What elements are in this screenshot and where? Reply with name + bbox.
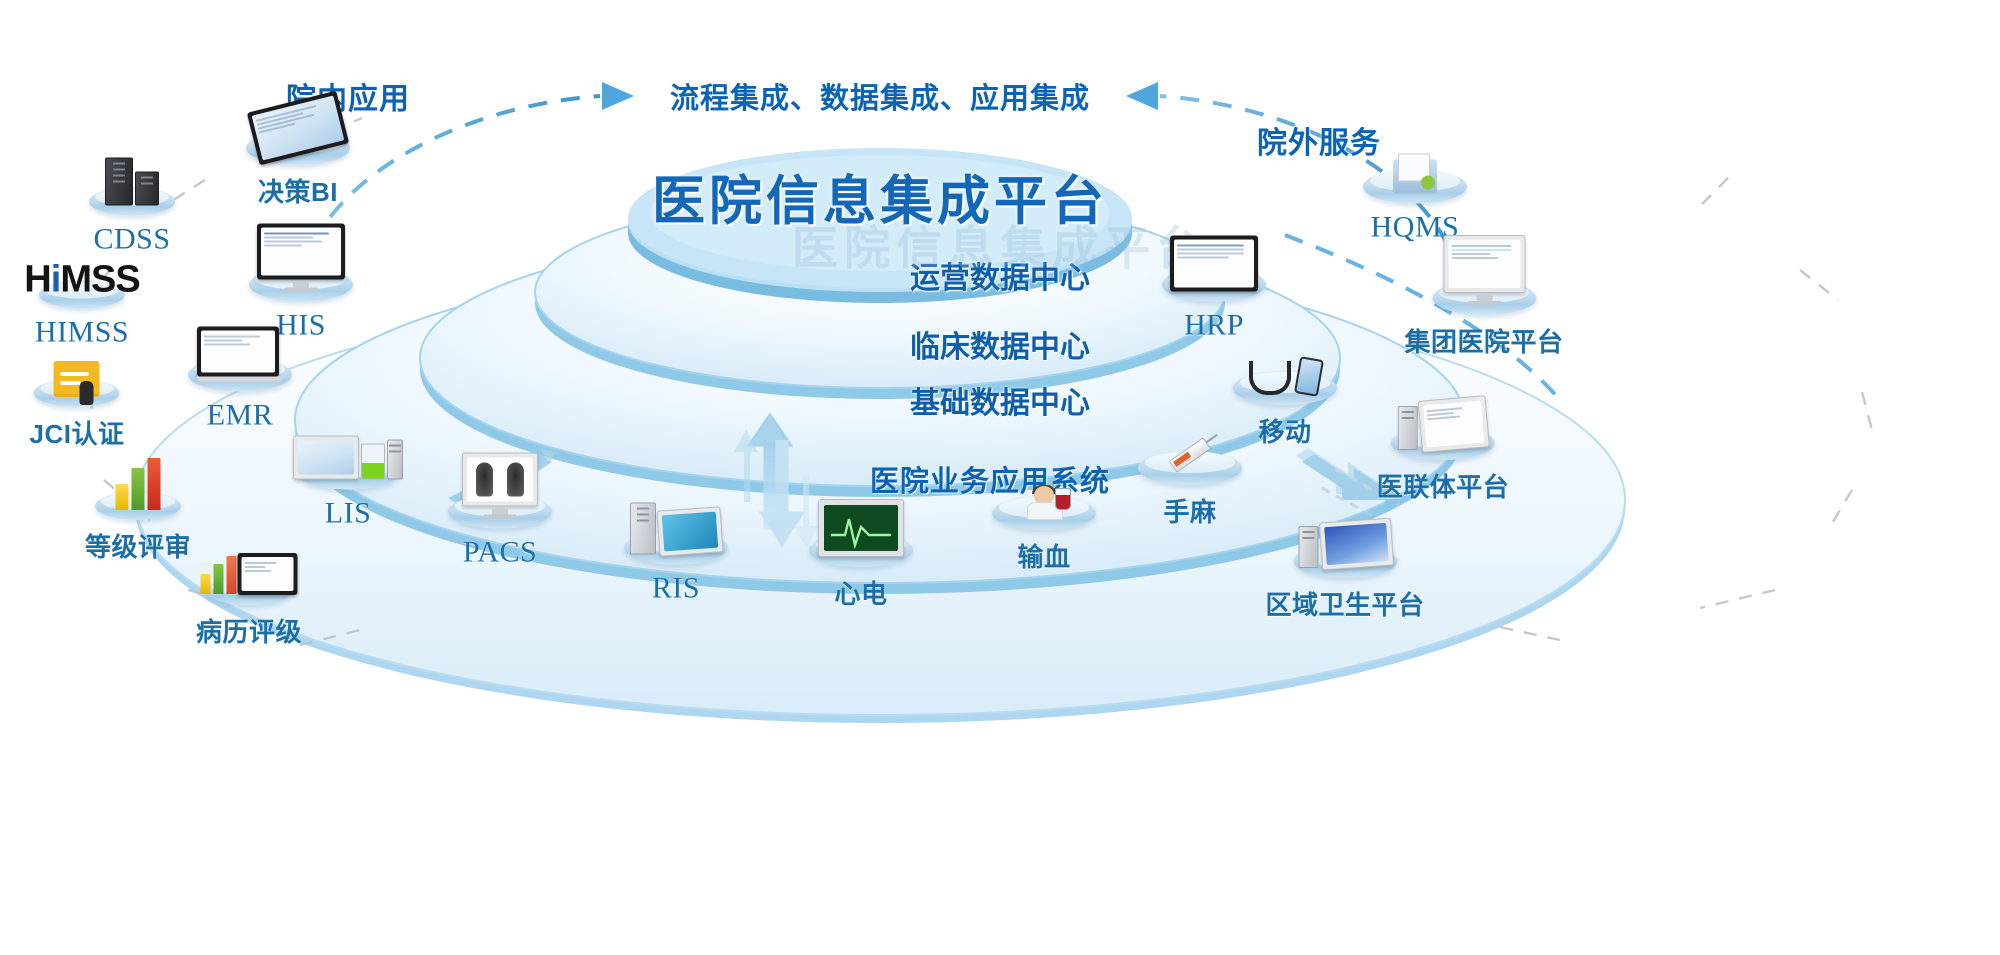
himss-logo-icon: HiMSS (24, 261, 139, 299)
stethoscope-phone-icon (1249, 358, 1321, 395)
vertical-exchange-arrows (734, 414, 818, 548)
desktop-monitor-icon (257, 224, 345, 292)
tablet-dashboard-icon (252, 101, 344, 155)
node-label: EMR (188, 399, 292, 433)
node-label: 集团医院平台 (1404, 322, 1563, 359)
node-pedestal (1391, 426, 1495, 460)
node-pedestal (1432, 281, 1536, 315)
syringe-icon (1169, 435, 1211, 475)
node-label: 病历评级 (196, 612, 302, 649)
node-medical-union-platform[interactable]: 医联体平台 (1377, 426, 1510, 504)
node-himss[interactable]: HiMSS HIMSS (35, 281, 129, 350)
xray-monitor-icon (462, 453, 538, 519)
node-jci-certification[interactable]: JCI认证 (30, 379, 125, 451)
node-anesthesia[interactable]: 手麻 (1138, 451, 1242, 529)
node-pedestal (249, 268, 353, 302)
node-record-rating[interactable]: 病历评级 (196, 577, 302, 649)
node-pedestal (1233, 371, 1337, 405)
node-pedestal (296, 456, 400, 490)
server-rack-icon (105, 158, 159, 206)
node-grade-review[interactable]: 等级评审 (85, 492, 191, 564)
node-pedestal (188, 358, 292, 392)
node-ris[interactable]: RIS (624, 531, 728, 606)
node-label: 区域卫生平台 (1265, 585, 1424, 622)
node-group-hospital-platform[interactable]: 集团医院平台 (1404, 281, 1563, 359)
node-label: JCI认证 (30, 414, 125, 451)
node-label: HRP (1162, 309, 1266, 343)
bar-chart-icon (115, 458, 160, 510)
folder-report-icon (1393, 160, 1437, 194)
node-label: CDSS (89, 223, 175, 257)
node-pedestal (89, 188, 175, 216)
node-emr[interactable]: EMR (188, 358, 292, 433)
node-pedestal (624, 531, 728, 565)
node-label: HIMSS (35, 316, 129, 350)
node-pedestal (1138, 451, 1242, 485)
tablet-table-icon (1170, 236, 1258, 292)
tower-monitor-icon (1398, 398, 1488, 450)
node-transfusion[interactable]: 输血 (992, 496, 1096, 574)
tier-label-bdr: 基础数据中心 (910, 378, 1090, 422)
node-pedestal (809, 533, 913, 567)
diagram-canvas: 运营数据中心 临床数据中心 基础数据中心 医院信息集成平台 医院信息集成平台 流… (0, 0, 2000, 955)
node-pedestal (206, 577, 292, 605)
node-ecg[interactable]: 心电 (809, 533, 913, 611)
node-pedestal (1363, 170, 1467, 204)
blue-monitor-icon (1298, 520, 1392, 568)
chart-laptop-icon (200, 553, 297, 595)
node-pedestal (448, 495, 552, 529)
node-pacs[interactable]: PACS (448, 495, 552, 570)
node-label: LIS (296, 497, 400, 531)
node-label: PACS (448, 536, 552, 570)
node-pedestal (992, 496, 1096, 530)
node-pedestal (95, 492, 181, 520)
certificate-seal-icon (54, 361, 100, 397)
node-pedestal (1162, 268, 1266, 302)
node-lis[interactable]: LIS (296, 456, 400, 531)
node-hqms[interactable]: HQMS (1363, 170, 1467, 245)
node-label: RIS (624, 572, 728, 606)
ecg-monitor-icon (818, 499, 904, 557)
node-decision-bi[interactable]: 决策BI (246, 131, 350, 209)
node-mobile[interactable]: 移动 (1233, 371, 1337, 449)
node-label: 移动 (1233, 412, 1337, 449)
monitor-portal-icon (1443, 235, 1525, 305)
node-label: 决策BI (246, 172, 350, 209)
node-label: 手麻 (1138, 492, 1242, 529)
node-pedestal (246, 131, 350, 165)
node-hrp[interactable]: HRP (1162, 268, 1266, 343)
heading-external-services: 院外服务 (1257, 118, 1381, 162)
node-pedestal (1293, 544, 1397, 578)
transfusion-icon (1027, 486, 1061, 520)
node-cdss[interactable]: CDSS (89, 188, 175, 257)
node-regional-health-platform[interactable]: 区域卫生平台 (1265, 544, 1424, 622)
node-pedestal: HiMSS (39, 281, 125, 309)
node-label: 医联体平台 (1377, 467, 1510, 504)
tower-monitor-icon (630, 503, 722, 555)
node-pedestal (34, 379, 120, 407)
lab-analyzer-icon (293, 436, 403, 480)
node-label: 等级评审 (85, 527, 191, 564)
node-label: 心电 (809, 574, 913, 611)
node-label: 输血 (992, 537, 1096, 574)
tier-label-cdr: 临床数据中心 (910, 322, 1090, 366)
platform-title: 医院信息集成平台 (652, 159, 1108, 235)
business-systems-label: 医院业务应用系统 (870, 458, 1110, 500)
integration-flow-label: 流程集成、数据集成、应用集成 (670, 75, 1090, 117)
laptop-record-icon (197, 327, 283, 382)
